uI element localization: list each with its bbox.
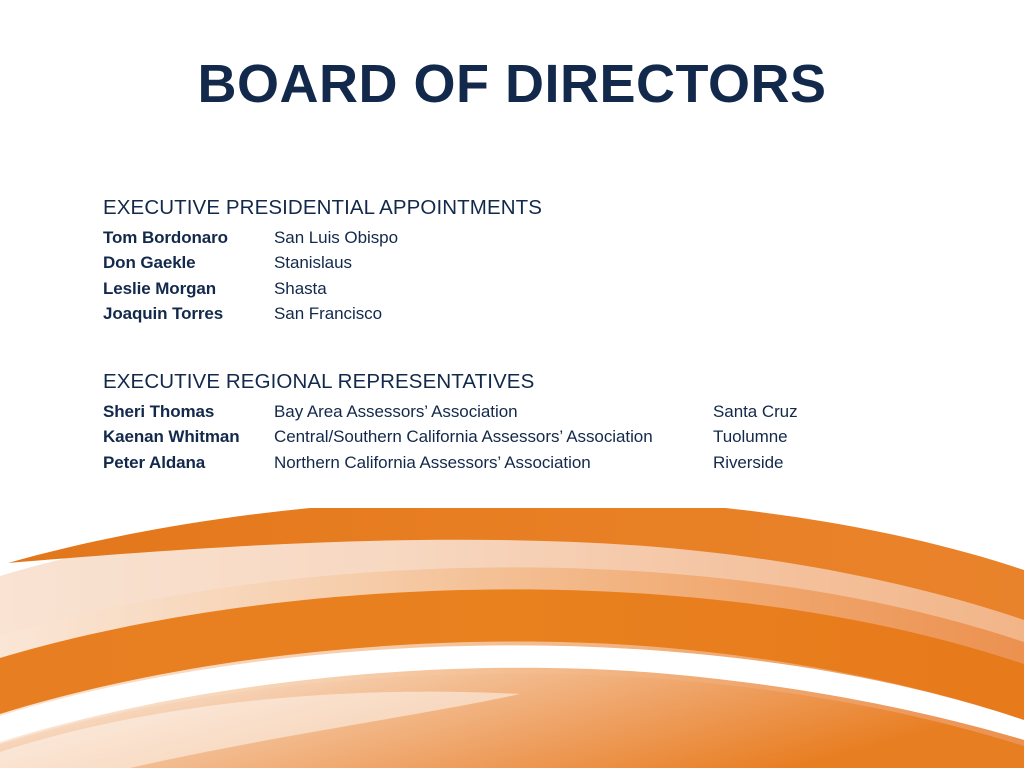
member-county: Riverside: [713, 450, 783, 475]
member-name: Don Gaekle: [103, 250, 274, 275]
member-name: Tom Bordonaro: [103, 225, 274, 250]
list-item: Tom Bordonaro San Luis Obispo: [103, 225, 963, 250]
section-executive-presidential-appointments: EXECUTIVE PRESIDENTIAL APPOINTMENTS Tom …: [103, 196, 963, 326]
member-association: Central/Southern California Assessors’ A…: [274, 424, 713, 449]
orange-wave-graphic: [0, 508, 1024, 768]
page-title: BOARD OF DIRECTORS: [0, 56, 1024, 113]
section-executive-regional-representatives: EXECUTIVE REGIONAL REPRESENTATIVES Sheri…: [103, 370, 963, 475]
list-item: Kaenan Whitman Central/Southern Californ…: [103, 424, 963, 449]
list-item: Joaquin Torres San Francisco: [103, 301, 963, 326]
member-county: Tuolumne: [713, 424, 788, 449]
member-name: Peter Aldana: [103, 450, 274, 475]
roster-list: Tom Bordonaro San Luis Obispo Don Gaekle…: [103, 225, 963, 326]
member-county: Shasta: [274, 276, 327, 301]
member-name: Kaenan Whitman: [103, 424, 274, 449]
roster-list: Sheri Thomas Bay Area Assessors’ Associa…: [103, 399, 963, 475]
list-item: Don Gaekle Stanislaus: [103, 250, 963, 275]
member-county: Santa Cruz: [713, 399, 798, 424]
member-name: Sheri Thomas: [103, 399, 274, 424]
list-item: Peter Aldana Northern California Assesso…: [103, 450, 963, 475]
board-roster: EXECUTIVE PRESIDENTIAL APPOINTMENTS Tom …: [103, 196, 963, 475]
section-header: EXECUTIVE PRESIDENTIAL APPOINTMENTS: [103, 196, 963, 220]
list-item: Sheri Thomas Bay Area Assessors’ Associa…: [103, 399, 963, 424]
member-name: Joaquin Torres: [103, 301, 274, 326]
section-header: EXECUTIVE REGIONAL REPRESENTATIVES: [103, 370, 963, 394]
member-county: Stanislaus: [274, 250, 352, 275]
list-item: Leslie Morgan Shasta: [103, 276, 963, 301]
member-county: San Francisco: [274, 301, 382, 326]
slide-canvas: BOARD OF DIRECTORS EXECUTIVE PRESIDENTIA…: [0, 0, 1024, 768]
member-county: San Luis Obispo: [274, 225, 398, 250]
member-name: Leslie Morgan: [103, 276, 274, 301]
member-association: Northern California Assessors’ Associati…: [274, 450, 713, 475]
member-association: Bay Area Assessors’ Association: [274, 399, 713, 424]
